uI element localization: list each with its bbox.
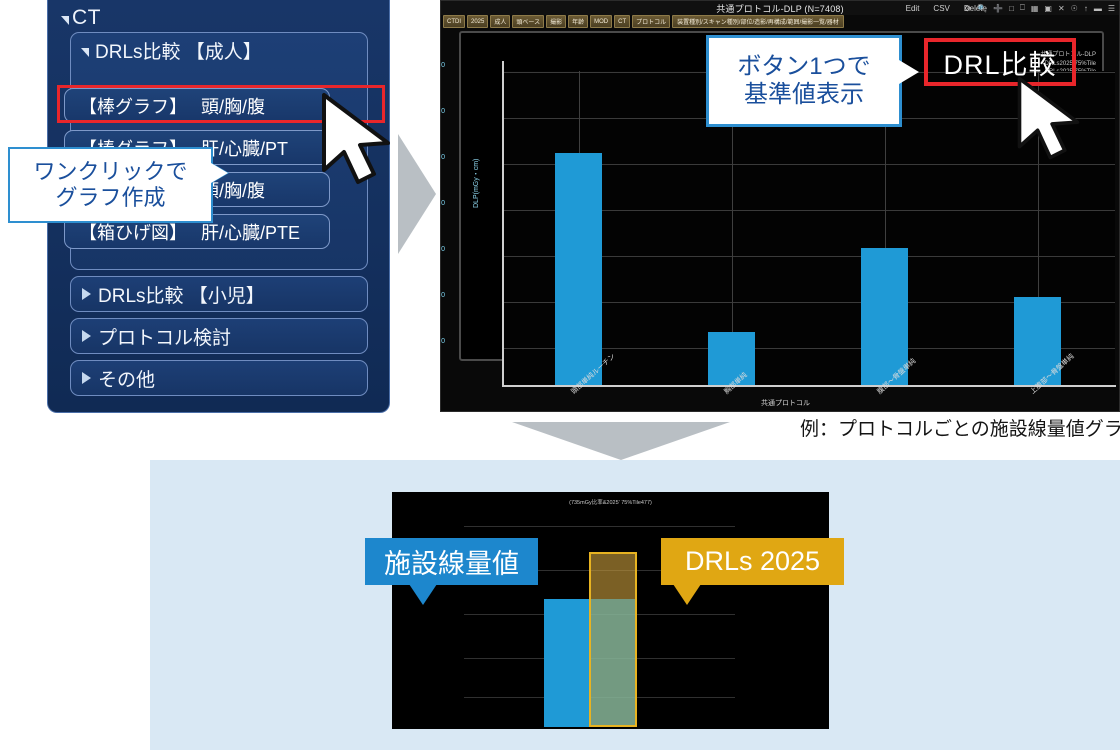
bottom-chart: (735mGy比率&2025' 75%Tile477)	[392, 492, 829, 729]
screenshot-root: CT DRLs比較 【成人】 【棒グラフ】 頭/胸/腹 【棒グラフ】 肝/心臓/…	[0, 0, 1120, 750]
sidebar-item-other[interactable]: その他	[70, 360, 368, 396]
bottom-chart-title: (735mGy比率&2025' 75%Tile477)	[392, 498, 829, 506]
callout-chart-line2: 基準値表示	[744, 81, 864, 109]
x-axis-label: 共通プロトコル	[761, 398, 810, 408]
filter-btn-mod[interactable]: MOD	[590, 15, 612, 28]
menu-csv[interactable]: CSV	[933, 4, 949, 13]
bottom-bar-facility	[544, 599, 589, 727]
filter-btn-scan[interactable]: 撮影	[546, 15, 566, 28]
y-tick-1200: 1200	[440, 108, 445, 115]
callout-tail	[899, 60, 919, 84]
mouse-cursor-icon	[318, 92, 404, 187]
up-icon[interactable]: ↑	[1084, 4, 1088, 13]
y-tick-400: 400	[440, 292, 445, 299]
y-tick-200: 200	[440, 338, 445, 345]
tag-drls-label: DRLs 2025	[685, 546, 820, 577]
tag-drls-2025: DRLs 2025	[661, 538, 844, 585]
gear-icon[interactable]: ⚙	[964, 4, 971, 13]
callout-one-button: ボタン1つで 基準値表示	[706, 35, 902, 127]
group-drls-adult-label: DRLs比較 【成人】	[95, 37, 262, 64]
bottom-bar-drl-overlap	[591, 599, 635, 725]
chart-icon-toolbar: ⚙ 🔍 ➕ □ ⎕ ▦ ▣ ✕ ☉ ↑ ▬ ☰	[964, 1, 1115, 15]
callout-tail	[211, 163, 228, 183]
grid-icon[interactable]: ▦	[1031, 4, 1039, 13]
item-target-label: 肝/心臓/PT	[201, 135, 288, 161]
minus-icon[interactable]: ▬	[1094, 4, 1102, 13]
filter-btn-protocol[interactable]: プロトコル	[632, 15, 670, 28]
y-axis-label: DLP(mGy・cm)	[471, 159, 481, 208]
callout-one-click: ワンクリックで グラフ作成	[8, 147, 213, 223]
filter-btn-adult[interactable]: 成人	[490, 15, 510, 28]
x-axis-line	[502, 385, 1116, 387]
rect-icon[interactable]: □	[1009, 4, 1014, 13]
mouse-cursor-icon	[1014, 76, 1092, 162]
callout-left-line1: ワンクリックで	[33, 159, 187, 185]
zoom-icon[interactable]: 🔍	[977, 4, 987, 13]
bar-0	[555, 153, 602, 385]
triangle-right-icon	[82, 372, 91, 384]
item-bracket-label: 【棒グラフ】	[79, 93, 187, 119]
tag-tail	[409, 584, 437, 605]
frame-icon[interactable]: ▣	[1044, 4, 1052, 13]
close-icon[interactable]: ✕	[1058, 4, 1065, 13]
y-axis-line	[502, 61, 504, 387]
triangle-down-icon	[61, 16, 69, 25]
y-tick-1400: 1400	[440, 62, 445, 69]
filter-btn-columns[interactable]: 装置種別/スキャン種別/部位/造影/再構成/範囲/撮影一覧/器材	[672, 15, 844, 28]
tag-tail	[673, 584, 701, 605]
sidebar-root-ct[interactable]: CT	[61, 6, 101, 30]
flow-arrow-down-icon	[508, 418, 734, 462]
menu-edit[interactable]: Edit	[906, 4, 920, 13]
pin-icon[interactable]: ☉	[1071, 4, 1078, 13]
sidebar-row-label: その他	[98, 365, 155, 392]
pan-icon[interactable]: ⎕	[1020, 3, 1025, 13]
filter-btn-ct[interactable]: CT	[614, 15, 630, 28]
filter-btn-age[interactable]: 年齢	[568, 15, 588, 28]
filter-btn-2025[interactable]: 2025	[467, 15, 488, 28]
sidebar-item-drls-pediatric[interactable]: DRLs比較 【小児】	[70, 276, 368, 312]
sidebar-root-label: CT	[72, 6, 101, 30]
plus-icon[interactable]: ➕	[993, 4, 1003, 13]
sidebar-row-label: プロトコル検討	[98, 323, 231, 350]
sidebar-row-label: DRLs比較 【小児】	[98, 281, 265, 308]
callout-left-line2: グラフ作成	[55, 185, 165, 211]
item-target-label: 肝/心臓/PTE	[201, 219, 300, 245]
triangle-right-icon	[82, 330, 91, 342]
filter-btn-head-base[interactable]: 頭ベース	[512, 15, 544, 28]
sidebar-item-protocol-review[interactable]: プロトコル検討	[70, 318, 368, 354]
callout-chart-line1: ボタン1つで	[737, 53, 870, 81]
menu-icon[interactable]: ☰	[1108, 4, 1115, 13]
triangle-down-icon	[81, 48, 89, 57]
sidebar-item-bar-head-chest-abd[interactable]: 【棒グラフ】 頭/胸/腹	[64, 88, 330, 123]
chart-filter-toolbar: CTDI 2025 成人 頭ベース 撮影 年齢 MOD CT プロトコル 装置種…	[443, 16, 844, 27]
filter-btn-ctdi[interactable]: CTDI	[443, 15, 465, 28]
item-target-label: 頭/胸/腹	[201, 93, 265, 119]
triangle-right-icon	[82, 288, 91, 300]
group-drls-adult-header[interactable]: DRLs比較 【成人】	[71, 33, 367, 68]
tag-facility-label: 施設線量値	[384, 542, 519, 581]
tag-facility-dose: 施設線量値	[365, 538, 538, 585]
bottom-caption: 例：プロトコルごとの施設線量値グラフ	[800, 414, 1120, 441]
